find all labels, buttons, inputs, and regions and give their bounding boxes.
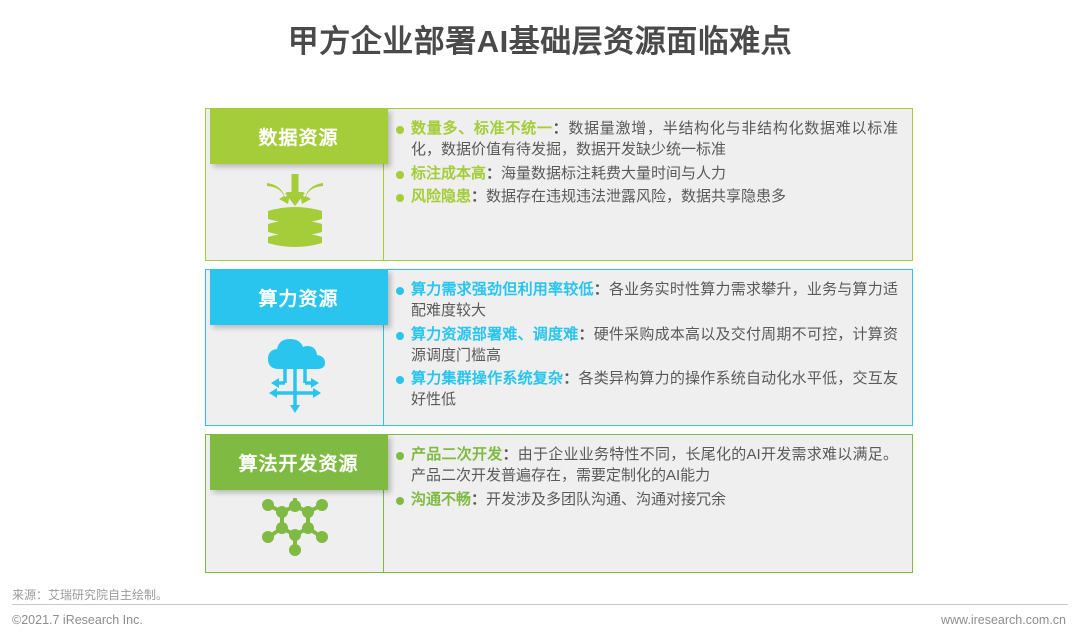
bullet-head: 算力需求强劲但利用率较低 <box>411 281 594 298</box>
bullet-dot-icon <box>396 287 404 295</box>
cloud-computing-icon <box>206 325 383 425</box>
slide-root: 甲方企业部署AI基础层资源面临难点 数据资源 <box>0 0 1080 640</box>
bullet-text: 沟通不畅：开发涉及多团队沟通、沟通对接冗余 <box>411 489 726 510</box>
bullet-head: 沟通不畅 <box>411 491 471 508</box>
section-3-bullets: 产品二次开发：由于企业业务特性不同，长尾化的AI开发需求难以满足。产品二次开发普… <box>383 434 913 573</box>
bullet-item: 算力集群操作系统复杂：各类异构算力的操作系统自动化水平低，交互友好性低 <box>394 368 898 411</box>
bottom-bar <box>0 635 1080 640</box>
section-1-left-column: 数据资源 <box>205 108 383 261</box>
bullet-text: 产品二次开发：由于企业业务特性不同，长尾化的AI开发需求难以满足。产品二次开发普… <box>411 444 898 487</box>
bullet-dot-icon <box>396 376 404 384</box>
bullet-dot-icon <box>396 332 404 340</box>
section-3-left-column: 算法开发资源 <box>205 434 383 573</box>
bullet-colon: ： <box>503 446 518 463</box>
bullet-body: 数据存在违规违法泄露风险，数据共享隐患多 <box>486 188 786 205</box>
bullet-head: 数量多、标准不统一 <box>411 120 553 137</box>
bullet-dot-icon <box>396 497 404 505</box>
bullet-item: 产品二次开发：由于企业业务特性不同，长尾化的AI开发需求难以满足。产品二次开发普… <box>394 444 898 487</box>
bullet-item: 风险隐患：数据存在违规违法泄露风险，数据共享隐患多 <box>394 186 898 207</box>
bullet-body: 海量数据标注耗费大量时间与人力 <box>501 165 726 182</box>
bullet-colon: ： <box>578 326 593 343</box>
bullet-item: 算力需求强劲但利用率较低：各业务实时性算力需求攀升，业务与算力适配难度较大 <box>394 279 898 322</box>
website-text: www.iresearch.com.cn <box>941 613 1066 627</box>
bullet-colon: ： <box>486 165 501 182</box>
bullet-item: 沟通不畅：开发涉及多团队沟通、沟通对接冗余 <box>394 489 898 510</box>
section-2-label: 算力资源 <box>210 269 388 325</box>
bullet-dot-icon <box>396 194 404 202</box>
section-computing-resources: 算力资源 <box>205 269 913 426</box>
bullet-head: 算力资源部署难、调度难 <box>411 326 578 343</box>
database-funnel-icon <box>206 164 383 260</box>
bullet-text: 算力需求强劲但利用率较低：各业务实时性算力需求攀升，业务与算力适配难度较大 <box>411 279 898 322</box>
bullet-item: 算力资源部署难、调度难：硬件采购成本高以及交付周期不可控，计算资源调度门槛高 <box>394 324 898 367</box>
section-data-resources: 数据资源 <box>205 108 913 261</box>
bullet-head: 标注成本高 <box>411 165 486 182</box>
bullet-item: 数量多、标准不统一：数据量激增，半结构化与非结构化数据难以标准化，数据价值有待发… <box>394 118 898 161</box>
section-2-left-column: 算力资源 <box>205 269 383 426</box>
bullet-text: 算力资源部署难、调度难：硬件采购成本高以及交付周期不可控，计算资源调度门槛高 <box>411 324 898 367</box>
bullet-dot-icon <box>396 126 404 134</box>
bullet-colon: ： <box>563 370 578 387</box>
bullet-dot-icon <box>396 171 404 179</box>
bullet-head: 风险隐患 <box>411 188 471 205</box>
bullet-head: 产品二次开发 <box>411 446 503 463</box>
source-note: 来源：艾瑞研究院自主绘制。 <box>12 586 168 603</box>
bullet-text: 风险隐患：数据存在违规违法泄露风险，数据共享隐患多 <box>411 186 786 207</box>
bullet-colon: ： <box>594 281 609 298</box>
footer-divider <box>12 604 1068 605</box>
bullet-text: 数量多、标准不统一：数据量激增，半结构化与非结构化数据难以标准化，数据价值有待发… <box>411 118 898 161</box>
section-2-bullets: 算力需求强劲但利用率较低：各业务实时性算力需求攀升，业务与算力适配难度较大 算力… <box>383 269 913 426</box>
bullet-head: 算力集群操作系统复杂 <box>411 370 563 387</box>
molecule-network-icon <box>206 490 383 572</box>
bullet-dot-icon <box>396 452 404 460</box>
copyright-text: ©2021.7 iResearch Inc. <box>12 613 143 627</box>
section-3-label: 算法开发资源 <box>210 434 388 490</box>
sections-container: 数据资源 <box>205 108 913 581</box>
page-title: 甲方企业部署AI基础层资源面临难点 <box>0 16 1080 61</box>
section-1-bullets: 数量多、标准不统一：数据量激增，半结构化与非结构化数据难以标准化，数据价值有待发… <box>383 108 913 261</box>
bullet-colon: ： <box>553 120 569 137</box>
section-1-label: 数据资源 <box>210 108 388 164</box>
bullet-colon: ： <box>471 491 486 508</box>
bullet-text: 标注成本高：海量数据标注耗费大量时间与人力 <box>411 163 726 184</box>
bullet-item: 标注成本高：海量数据标注耗费大量时间与人力 <box>394 163 898 184</box>
section-algorithm-dev-resources: 算法开发资源 <box>205 434 913 573</box>
bullet-colon: ： <box>471 188 486 205</box>
bullet-text: 算力集群操作系统复杂：各类异构算力的操作系统自动化水平低，交互友好性低 <box>411 368 898 411</box>
bullet-body: 开发涉及多团队沟通、沟通对接冗余 <box>486 491 726 508</box>
